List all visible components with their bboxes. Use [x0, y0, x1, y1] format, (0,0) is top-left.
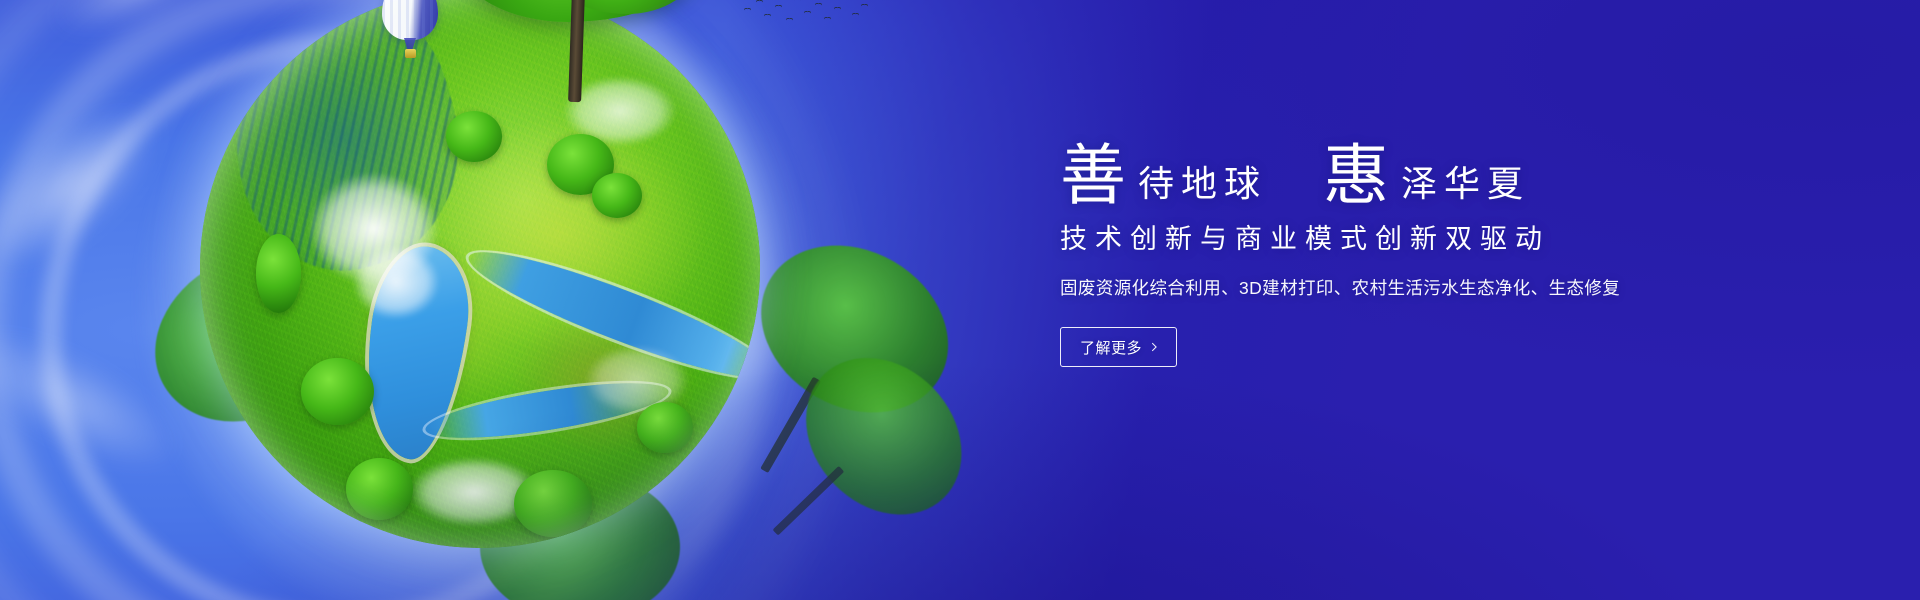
- hero-content: 善 待地球 惠 泽华夏 技术创新与商业模式创新双驱动 固废资源化综合利用、3D建…: [1060, 128, 1760, 367]
- headline-char-primary-2: 惠: [1323, 145, 1389, 208]
- headline-text-2: 泽华夏: [1389, 166, 1530, 206]
- headline-text-1: 待地球: [1126, 166, 1267, 206]
- subtitle: 技术创新与商业模式创新双驱动: [1060, 222, 1760, 257]
- learn-more-label: 了解更多: [1080, 337, 1142, 358]
- hero-banner: 善 待地球 惠 泽华夏 技术创新与商业模式创新双驱动 固废资源化综合利用、3D建…: [0, 0, 1920, 600]
- page-title: 善 待地球 惠 泽华夏: [1060, 128, 1760, 206]
- description-text: 固废资源化综合利用、3D建材打印、农村生活污水生态净化、生态修复: [1060, 275, 1760, 301]
- headline-char-primary-1: 善: [1060, 145, 1126, 208]
- learn-more-button[interactable]: 了解更多: [1060, 327, 1177, 367]
- chevron-right-icon: [1148, 343, 1156, 351]
